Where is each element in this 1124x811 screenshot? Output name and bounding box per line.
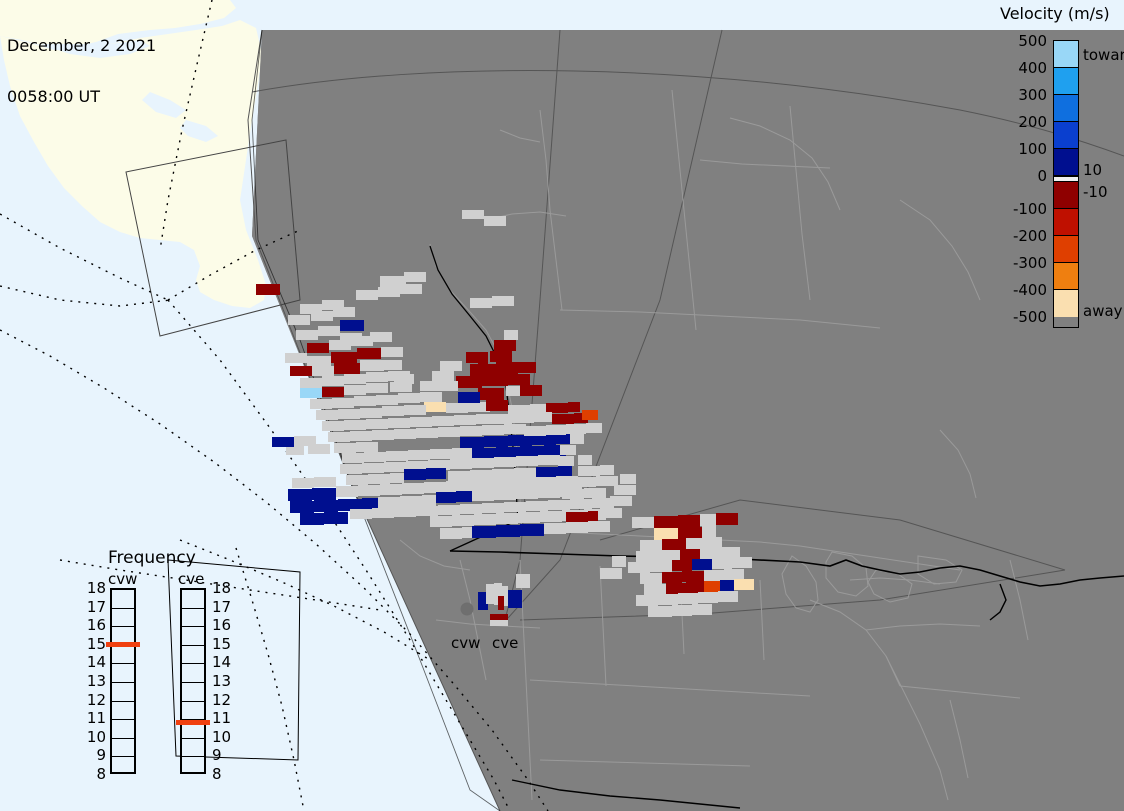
frequency-tick-cve-12: 12	[212, 691, 231, 709]
timestamp-title: December, 2 2021 0058:00 UT	[7, 3, 156, 139]
colorbar-cell-toward	[1054, 95, 1078, 122]
frequency-tick-cvw-18: 18	[84, 579, 106, 597]
velocity-colorbar: Velocity (m/s) 5004003002001000-100-200-…	[986, 2, 1124, 342]
colorbar-cell-away	[1054, 263, 1078, 290]
title-time: 0058:00 UT	[7, 88, 156, 105]
colorbar-pos-threshold-label: 10	[1083, 161, 1102, 179]
frequency-segment	[182, 702, 204, 721]
colorbar-tick-500: 500	[1018, 32, 1047, 50]
frequency-tick-cvw-16: 16	[84, 616, 106, 634]
frequency-tick-cvw-15: 15	[84, 635, 106, 653]
frequency-segment	[182, 757, 204, 776]
frequency-segment	[112, 609, 134, 628]
radar-site-label-cve: cve	[492, 634, 518, 652]
frequency-bar-cvw	[110, 588, 136, 774]
colorbar-toward-label: toward	[1083, 46, 1124, 64]
colorbar-cell-away	[1054, 290, 1078, 317]
frequency-tick-cve-13: 13	[212, 672, 231, 690]
frequency-segment	[112, 646, 134, 665]
title-date: December, 2 2021	[7, 37, 156, 54]
frequency-legend: Frequency cvw18171615141312111098cve1817…	[88, 548, 248, 788]
frequency-tick-cve-14: 14	[212, 653, 231, 671]
colorbar-cell-away	[1054, 182, 1078, 209]
frequency-segment	[112, 590, 134, 609]
frequency-tick-cve-15: 15	[212, 635, 231, 653]
frequency-tick-cve-11: 11	[212, 709, 231, 727]
frequency-tick-cvw-11: 11	[84, 709, 106, 727]
radar-origin-marker	[461, 603, 473, 615]
velocity-map-root: December, 2 2021 0058:00 UT cvwcve Veloc…	[0, 0, 1124, 811]
frequency-tick-cve-18: 18	[212, 579, 231, 597]
frequency-segment	[112, 757, 134, 776]
colorbar-away-label: away	[1083, 302, 1123, 320]
colorbar-tick-0: 0	[1037, 167, 1047, 185]
colorbar-neg-threshold-label: -10	[1083, 183, 1108, 201]
frequency-segment	[182, 664, 204, 683]
colorbar-title: Velocity (m/s)	[1000, 4, 1110, 23]
colorbar-tick-200: 200	[1018, 113, 1047, 131]
frequency-segment	[112, 664, 134, 683]
frequency-tick-cvw-8: 8	[84, 765, 106, 783]
frequency-title: Frequency	[108, 548, 196, 568]
frequency-segment	[112, 702, 134, 721]
colorbar-cell-toward	[1054, 149, 1078, 176]
frequency-marker-cvw	[106, 642, 140, 647]
frequency-segment	[182, 739, 204, 758]
colorbar-tick-neg500: -500	[1013, 308, 1047, 326]
colorbar-tick-300: 300	[1018, 86, 1047, 104]
frequency-segment	[182, 627, 204, 646]
frequency-tick-cvw-9: 9	[84, 746, 106, 764]
frequency-tick-cvw-14: 14	[84, 653, 106, 671]
colorbar-tick-400: 400	[1018, 59, 1047, 77]
frequency-column-label-cvw: cvw	[108, 570, 137, 588]
colorbar-tick-neg100: -100	[1013, 200, 1047, 218]
frequency-tick-cvw-17: 17	[84, 598, 106, 616]
frequency-segment	[112, 739, 134, 758]
colorbar-cell-away	[1054, 236, 1078, 263]
frequency-tick-cve-16: 16	[212, 616, 231, 634]
colorbar-cell-away	[1054, 209, 1078, 236]
colorbar-tick-neg400: -400	[1013, 281, 1047, 299]
frequency-segment	[112, 720, 134, 739]
frequency-segment	[182, 609, 204, 628]
colorbar-tick-neg200: -200	[1013, 227, 1047, 245]
frequency-segment	[112, 683, 134, 702]
frequency-tick-cvw-13: 13	[84, 672, 106, 690]
colorbar-cell-toward	[1054, 68, 1078, 95]
frequency-segment	[182, 646, 204, 665]
frequency-tick-cve-8: 8	[212, 765, 222, 783]
colorbar-tick-neg300: -300	[1013, 254, 1047, 272]
frequency-segment	[182, 590, 204, 609]
frequency-tick-cve-10: 10	[212, 728, 231, 746]
colorbar-cell-toward	[1054, 122, 1078, 149]
frequency-marker-cve	[176, 720, 210, 725]
colorbar-cell-toward	[1054, 41, 1078, 68]
frequency-tick-cvw-12: 12	[84, 691, 106, 709]
frequency-bar-cve	[180, 588, 206, 774]
frequency-tick-cve-17: 17	[212, 598, 231, 616]
frequency-tick-cve-9: 9	[212, 746, 222, 764]
colorbar-swatches	[1053, 40, 1079, 328]
radar-site-label-cvw: cvw	[451, 634, 480, 652]
frequency-segment	[182, 683, 204, 702]
frequency-column-label-cve: cve	[178, 570, 204, 588]
frequency-tick-cvw-10: 10	[84, 728, 106, 746]
colorbar-tick-100: 100	[1018, 140, 1047, 158]
